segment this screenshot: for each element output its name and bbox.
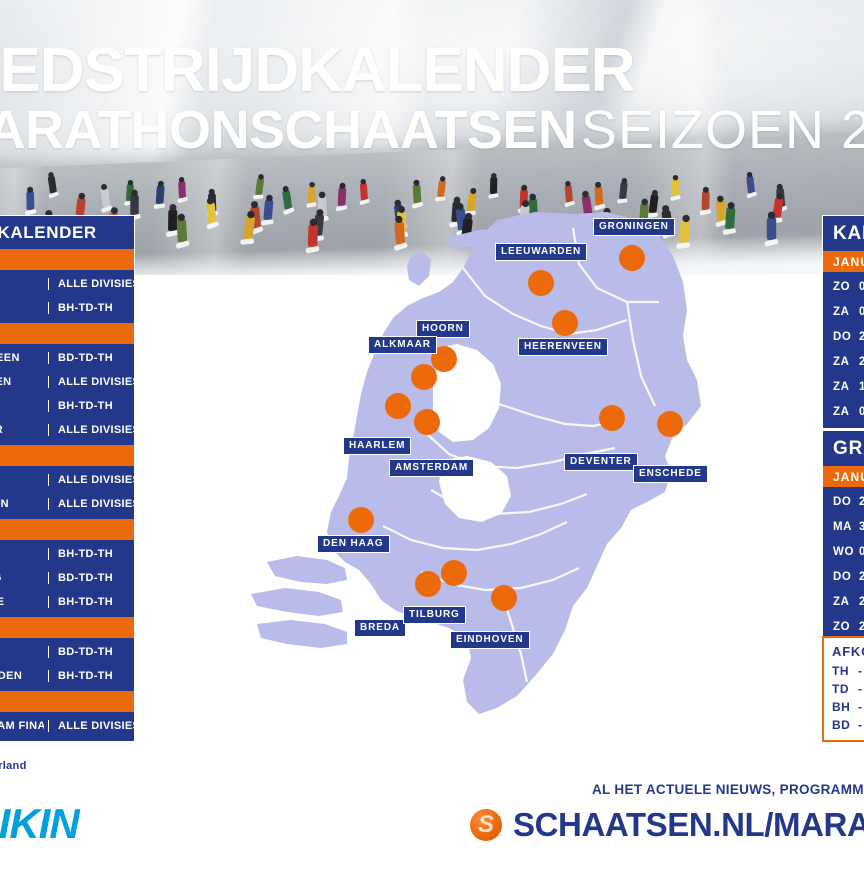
left-month-header: OKTOBER — [0, 249, 134, 270]
legend-code: TD — [832, 682, 858, 696]
schedule-location: DEN HAAG — [0, 572, 44, 584]
grandprix-row[interactable]: DO23TILBURG — [823, 564, 864, 589]
legend-dash: - — [858, 682, 864, 696]
legend-item: TD-TOPDIVISIE DAMES — [824, 680, 864, 698]
schedule-location: AMSTERDAM FINALE — [0, 720, 44, 732]
legend-code: BH — [832, 700, 858, 714]
schedule-row[interactable]: ZA07TILBURGBH-TD-TH — [0, 542, 134, 566]
schedule-location: HOORN — [0, 400, 44, 412]
poster-title: WEDSTRIJDKALENDER MARATHONSCHAATSEN SEIZ… — [0, 42, 864, 156]
daikin-logo: DAIKIN — [0, 800, 79, 848]
grandprix-date: 26 — [859, 496, 864, 508]
schaatsen-s-icon: S — [470, 809, 502, 841]
calendar-weekday: ZA — [833, 381, 859, 393]
schedule-row[interactable]: ZA12HAARLEMBD-TD-TH — [0, 640, 134, 664]
skater-figure — [565, 185, 573, 203]
skater-figure — [702, 191, 710, 210]
right-panel-month: JANUARI — [823, 251, 864, 272]
schedule-row[interactable]: ZA05HEERENVEENBD-TD-TH — [0, 346, 134, 370]
grandprix-weekday: MA — [833, 521, 859, 533]
left-month-header: NOVEMBER — [0, 323, 134, 344]
calendar-row[interactable]: ZA18HOORN — [823, 374, 864, 399]
city-dot-haarlem[interactable] — [385, 393, 411, 419]
schedule-row[interactable]: ZA12GRONINGENALLE DIVISIES — [0, 370, 134, 394]
grand-prix-rows: DO26HEERENVEENMA30DEVENTERWO01ENSCHEDEDO… — [823, 487, 864, 643]
grandprix-weekday: DO — [833, 496, 859, 508]
footer-tagline: AL HET ACTUELE NIEUWS, PROGRAMMA'S EN UI… — [592, 782, 864, 797]
netherlands-map-svg — [235, 210, 705, 755]
city-label-groningen: GRONINGEN — [593, 218, 675, 236]
schedule-location: ENSCHEDE — [0, 596, 44, 608]
grandprix-row[interactable]: MA30DEVENTER — [823, 514, 864, 539]
skater-figure — [360, 183, 368, 201]
skater-figure — [672, 179, 679, 196]
skater-figure — [594, 186, 603, 205]
grandprix-row[interactable]: DO26HEERENVEEN — [823, 489, 864, 514]
city-dot-breda[interactable] — [415, 571, 441, 597]
abbreviations-legend: AFKORTINGEN TH-TOPDIVISIE HERENTD-TOPDIV… — [822, 636, 864, 742]
calendar-date: 07 — [859, 306, 864, 318]
legend-code: TH — [832, 664, 858, 678]
schedule-divisions: BH-TD-TH — [48, 400, 134, 412]
right-panel-title: KALENDER KPN MARATHON CUP — [823, 216, 864, 251]
grandprix-date: 25 — [859, 596, 864, 608]
schedule-row[interactable]: ZA15ALKMAARBH-TD-TH — [0, 296, 134, 320]
grand-prix-title: GRAND PRIX — [823, 431, 864, 466]
schedule-divisions: ALLE DIVISIES — [48, 720, 134, 732]
schedule-location: BREDA — [0, 474, 44, 486]
calendar-weekday: ZA — [833, 406, 859, 418]
skater-figure — [156, 185, 165, 204]
map-zeeland-islands-2-path — [251, 588, 343, 616]
grand-prix-month: JANUARI — [823, 466, 864, 487]
city-dot-amsterdam[interactable] — [414, 409, 440, 435]
schedule-row[interactable]: ZA04AMSTERDAM FINALEALLE DIVISIES — [0, 714, 134, 738]
schedule-location: HAARLEM — [0, 646, 44, 658]
city-label-heerenveen: HEERENVEEN — [518, 338, 608, 356]
city-label-hoorn: HOORN — [416, 320, 470, 338]
city-label-deventer: DEVENTER — [564, 453, 638, 471]
left-panel-blocks: OKTOBERZA08UTRECHTALLE DIVISIESZA15ALKMA… — [0, 249, 134, 741]
schedule-divisions: ALLE DIVISIES — [48, 498, 134, 510]
schedule-row[interactable]: ZA03BREDAALLE DIVISIES — [0, 468, 134, 492]
left-month-rows: ZA08UTRECHTALLE DIVISIESZA15ALKMAARBH-TD… — [0, 270, 134, 323]
legend-dash: - — [858, 664, 864, 678]
schedule-location: GRONINGEN — [0, 376, 44, 388]
title-line-2-light: SEIZOEN 2022 — [581, 100, 864, 160]
grandprix-weekday: ZA — [833, 596, 859, 608]
skater-figure — [716, 200, 726, 221]
schedule-row[interactable]: ZA08UTRECHTALLE DIVISIES — [0, 272, 134, 296]
map-zeeland-islands-3-path — [257, 620, 347, 648]
city-dot-tilburg[interactable] — [441, 560, 467, 586]
skater-figure — [490, 177, 497, 194]
calendar-weekday: ZA — [833, 356, 859, 368]
skater-figure — [130, 194, 138, 215]
city-label-alkmaar: ALKMAAR — [368, 336, 437, 354]
city-label-den-haag: DEN HAAG — [317, 535, 390, 553]
city-label-eindhoven: EINDHOVEN — [450, 631, 530, 649]
netherlands-map: GRONINGENLEEUWARDENHEERENVEENHOORNALKMAA… — [235, 210, 705, 755]
grandprix-date: 01 — [859, 546, 864, 558]
left-schedule-panel: WEDSTRIJDKALENDER OKTOBERZA08UTRECHTALLE… — [0, 215, 135, 742]
schedule-row[interactable]: ZA14DEN HAAGBD-TD-TH — [0, 566, 134, 590]
title-line-1: WEDSTRIJDKALENDER — [0, 42, 864, 101]
calendar-date: 26 — [859, 331, 864, 343]
schedule-divisions: ALLE DIVISIES — [48, 474, 134, 486]
skater-figure — [338, 187, 347, 206]
grandprix-date: 30 — [859, 521, 864, 533]
grandprix-weekday: WO — [833, 546, 859, 558]
left-month-rows: ZA07TILBURGBH-TD-THZA14DEN HAAGBD-TD-THZ… — [0, 540, 134, 617]
legend-title: AFKORTINGEN — [824, 642, 864, 662]
city-label-enschede: ENSCHEDE — [633, 465, 708, 483]
left-month-header: FEBRUARI — [0, 617, 134, 638]
calendar-date: 01 — [859, 281, 864, 293]
calendar-row[interactable]: ZA07ALKMAAR — [823, 299, 864, 324]
footer-left-text: Schaatsend Nederland — [0, 760, 27, 772]
skater-figure — [767, 217, 776, 240]
schedule-row[interactable]: ZA10EINDHOVENALLE DIVISIES — [0, 492, 134, 516]
calendar-row[interactable]: ZA04UTRECHT — [823, 399, 864, 424]
grandprix-weekday: ZO — [833, 621, 859, 633]
skater-figure — [177, 219, 188, 243]
title-line-2: MARATHONSCHAATSEN SEIZOEN 2022 — [0, 105, 864, 156]
calendar-weekday: ZA — [833, 306, 859, 318]
schedule-divisions: BD-TD-TH — [48, 572, 134, 584]
footer-url[interactable]: SCHAATSEN.NL/MARATHON — [513, 806, 864, 844]
grandprix-weekday: DO — [833, 571, 859, 583]
city-label-amsterdam: AMSTERDAM — [389, 459, 474, 477]
schedule-row[interactable]: ZA18LEEUWARDENBH-TD-TH — [0, 664, 134, 688]
schedule-location: TILBURG — [0, 548, 44, 560]
city-dot-leeuwarden[interactable] — [528, 270, 554, 296]
schedule-location: DEVENTER — [0, 424, 44, 436]
city-label-haarlem: HAARLEM — [343, 437, 411, 455]
city-dot-enschede[interactable] — [657, 411, 683, 437]
legend-code: BD — [832, 718, 858, 732]
grandprix-date: 26 — [859, 621, 864, 633]
grandprix-row[interactable]: WO01ENSCHEDE — [823, 539, 864, 564]
skater-figure — [178, 181, 186, 199]
city-dot-den-haag[interactable] — [348, 507, 374, 533]
city-label-leeuwarden: LEEUWARDEN — [495, 243, 587, 261]
schedule-divisions: BH-TD-TH — [48, 670, 134, 682]
calendar-row[interactable]: ZA28GRONINGEN — [823, 349, 864, 374]
right-panel-rows: ZO01NIEUWJAARSRACEZA07ALKMAARDO26HEERENV… — [823, 272, 864, 428]
left-month-header: DECEMBER — [0, 445, 134, 466]
schedule-divisions: BD-TD-TH — [48, 352, 134, 364]
skater-figure — [308, 186, 316, 203]
schedule-divisions: ALLE DIVISIES — [48, 278, 134, 290]
legend-item: BH-BENEDEN HEREN — [824, 698, 864, 716]
city-label-breda: BREDA — [354, 619, 406, 637]
right-calendar-panel: KALENDER KPN MARATHON CUP JANUARI ZO01NI… — [822, 215, 864, 429]
left-month-header: MAART — [0, 691, 134, 712]
grand-prix-panel: GRAND PRIX JANUARI DO26HEERENVEENMA30DEV… — [822, 430, 864, 644]
left-month-rows: ZA04AMSTERDAM FINALEALLE DIVISIES — [0, 712, 134, 741]
left-panel-title: WEDSTRIJDKALENDER — [0, 216, 134, 249]
schedule-row[interactable]: ZA21ENSCHEDEBH-TD-TH — [0, 590, 134, 614]
legend-dash: - — [858, 718, 864, 732]
calendar-row[interactable]: DO26HEERENVEEN — [823, 324, 864, 349]
calendar-date: 18 — [859, 381, 864, 393]
city-label-tilburg: TILBURG — [403, 606, 466, 624]
schedule-divisions: BH-TD-TH — [48, 596, 134, 608]
schedule-divisions: BD-TD-TH — [48, 646, 134, 658]
city-dot-heerenveen[interactable] — [552, 310, 578, 336]
city-dot-deventer[interactable] — [599, 405, 625, 431]
footer-url-block[interactable]: S SCHAATSEN.NL/MARATHON — [470, 806, 864, 844]
title-line-2-bold: MARATHONSCHAATSEN — [0, 100, 576, 160]
legend-item: TH-TOPDIVISIE HEREN — [824, 662, 864, 680]
skater-figure — [26, 191, 34, 210]
schedule-row[interactable]: ZA19HOORNBH-TD-TH — [0, 394, 134, 418]
grandprix-date: 23 — [859, 571, 864, 583]
left-month-rows: ZA03BREDAALLE DIVISIESZA10EINDHOVENALLE … — [0, 466, 134, 519]
schedule-location: LEEUWARDEN — [0, 670, 44, 682]
left-month-rows: ZA12HAARLEMBD-TD-THZA18LEEUWARDENBH-TD-T… — [0, 638, 134, 691]
city-dot-groningen[interactable] — [619, 245, 645, 271]
schedule-location: ALKMAAR — [0, 302, 44, 314]
city-dot-eindhoven[interactable] — [491, 585, 517, 611]
schedule-location: EINDHOVEN — [0, 498, 44, 510]
legend-rows: TH-TOPDIVISIE HERENTD-TOPDIVISIE DAMESBH… — [824, 662, 864, 734]
calendar-date: 28 — [859, 356, 864, 368]
map-zeeland-islands-path — [267, 556, 347, 584]
schedule-divisions: BH-TD-TH — [48, 548, 134, 560]
schedule-divisions: ALLE DIVISIES — [48, 376, 134, 388]
schedule-divisions: BH-TD-TH — [48, 302, 134, 314]
schedule-location: UTRECHT — [0, 278, 44, 290]
calendar-weekday: DO — [833, 331, 859, 343]
schedule-row[interactable]: ZA26DEVENTERALLE DIVISIES — [0, 418, 134, 442]
poster-root: WEDSTRIJDKALENDER MARATHONSCHAATSEN SEIZ… — [0, 0, 864, 870]
city-dot-alkmaar[interactable] — [411, 364, 437, 390]
calendar-row[interactable]: ZO01NIEUWJAARSRACE — [823, 274, 864, 299]
left-month-rows: ZA05HEERENVEENBD-TD-THZA12GRONINGENALLE … — [0, 344, 134, 445]
legend-dash: - — [858, 700, 864, 714]
schedule-divisions: ALLE DIVISIES — [48, 424, 134, 436]
skater-figure — [725, 207, 736, 230]
skater-figure — [413, 184, 422, 203]
calendar-date: 04 — [859, 406, 864, 418]
left-month-header: JANUARI — [0, 519, 134, 540]
schedule-location: HEERENVEEN — [0, 352, 44, 364]
grandprix-row[interactable]: ZA25BREDA — [823, 589, 864, 614]
calendar-weekday: ZO — [833, 281, 859, 293]
map-texel-path — [407, 252, 431, 286]
legend-item: BD-BENEDEN DAMES — [824, 716, 864, 734]
